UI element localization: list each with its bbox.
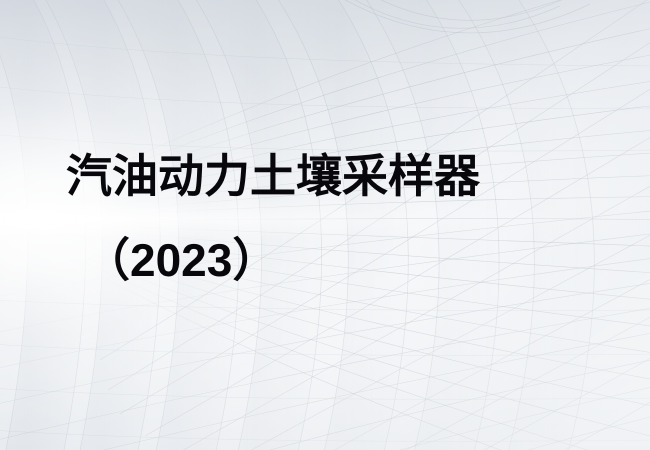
product-title-year-line: （2023） [84, 234, 278, 286]
title-card: 汽油动力土壤采样器 （2023） [0, 0, 650, 450]
product-title-line-1: 汽油动力土壤采样器 [66, 150, 480, 202]
title-text-block: 汽油动力土壤采样器 （2023） [0, 0, 650, 450]
